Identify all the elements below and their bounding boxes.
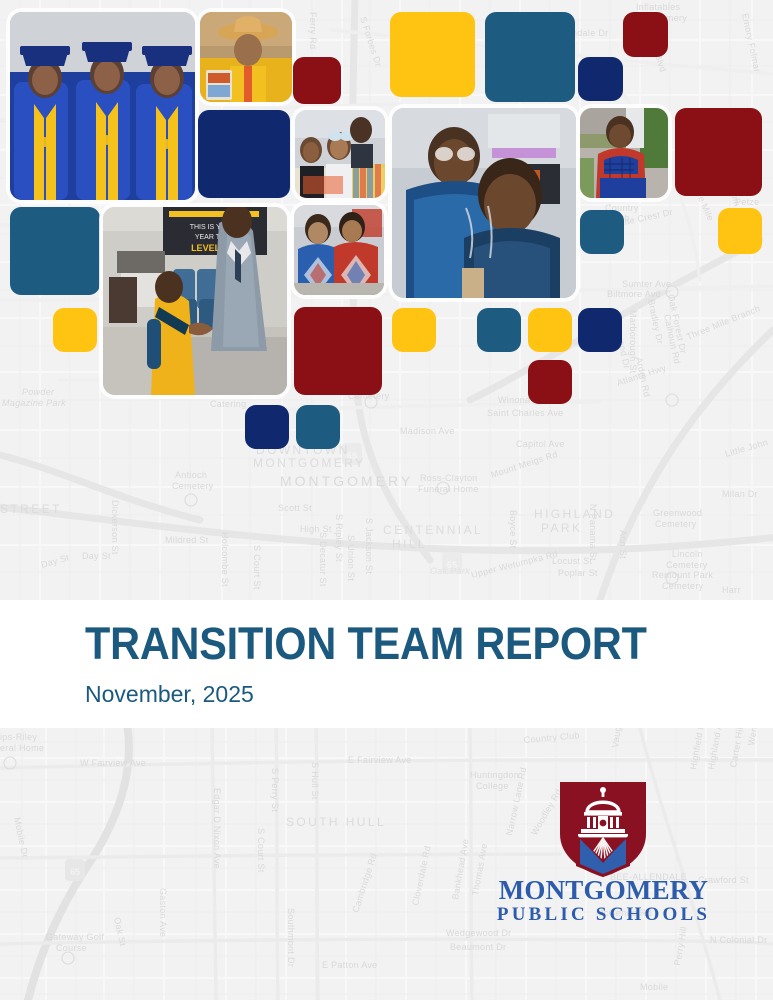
block-gold-large-top (390, 12, 475, 97)
block-navy-large-upper (198, 110, 290, 198)
svg-text:Edgar D Nixon Ave: Edgar D Nixon Ave (212, 788, 222, 869)
block-gold-lower-center (528, 308, 572, 352)
block-gold-far-right (718, 208, 762, 252)
shield-logo-icon (554, 778, 652, 878)
report-date: November, 2025 (85, 681, 254, 708)
report-cover-page: 65 65 Ferry Rd S Forb (0, 0, 773, 1000)
block-maroon-small-left (293, 57, 341, 104)
svg-text:eral Home: eral Home (0, 743, 44, 753)
photo-students-in-tie-dye-shirts (294, 205, 384, 295)
svg-text:Course: Course (56, 943, 87, 953)
svg-text:Southmont Dr: Southmont Dr (286, 908, 296, 967)
svg-text:Gateway Golf: Gateway Golf (46, 932, 104, 942)
photo-collage: THIS IS YOUR YEAR TO... LEVEL UP (0, 0, 773, 600)
svg-text:W Fairview Ave: W Fairview Ave (80, 758, 146, 768)
photo-principal-greeting-student: THIS IS YOUR YEAR TO... LEVEL UP (103, 207, 287, 395)
svg-text:N Colonial Dr: N Colonial Dr (710, 935, 767, 945)
block-maroon-large-right (675, 108, 762, 196)
photo-two-students-smiling (392, 108, 576, 298)
svg-text:S Perry St: S Perry St (270, 768, 280, 812)
block-maroon-lower-center (294, 307, 382, 395)
photo-student-in-spiderman-costume (580, 108, 668, 198)
svg-text:ips-Riley: ips-Riley (0, 732, 37, 742)
svg-text:S Hull St: S Hull St (310, 762, 320, 800)
montgomery-public-schools-logo: MONTGOMERY PUBLIC SCHOOLS (496, 778, 711, 923)
svg-text:E Patton Ave: E Patton Ave (322, 960, 377, 970)
block-teal-large-top (485, 12, 575, 102)
logo-name-text: MONTGOMERY (496, 877, 711, 904)
svg-text:E Fairview Ave: E Fairview Ave (348, 755, 412, 765)
block-navy-lower-right (578, 308, 622, 352)
block-maroon-top-right (623, 12, 668, 57)
photo-young-students-at-craft-table (295, 110, 385, 198)
block-teal-mid-right (580, 210, 624, 254)
block-maroon-bottom (528, 360, 572, 404)
block-teal-left-mid (10, 207, 100, 295)
photo-student-in-cowboy-hat (200, 12, 292, 102)
svg-text:S Court St: S Court St (256, 828, 266, 873)
svg-text:Mobile: Mobile (640, 982, 668, 992)
block-gold-left-small (53, 308, 97, 352)
block-navy-bottom-left (245, 405, 289, 449)
block-teal-lower-center (477, 308, 521, 352)
photo-graduates-in-caps-and-gowns (10, 12, 195, 200)
svg-text:SOUTH HULL: SOUTH HULL (286, 815, 386, 829)
block-teal-bottom (296, 405, 340, 449)
svg-text:Gaston Ave: Gaston Ave (158, 888, 168, 937)
title-band: TRANSITION TEAM REPORT November, 2025 (0, 600, 773, 728)
svg-text:65: 65 (70, 867, 80, 877)
svg-text:Wedgewood Dr: Wedgewood Dr (446, 928, 511, 938)
logo-subtitle-text: PUBLIC SCHOOLS (496, 905, 711, 924)
page-title: TRANSITION TEAM REPORT (85, 618, 647, 670)
block-navy-top-right (578, 57, 623, 101)
svg-text:Beaumont Dr: Beaumont Dr (450, 942, 506, 952)
block-gold-lower-left (392, 308, 436, 352)
